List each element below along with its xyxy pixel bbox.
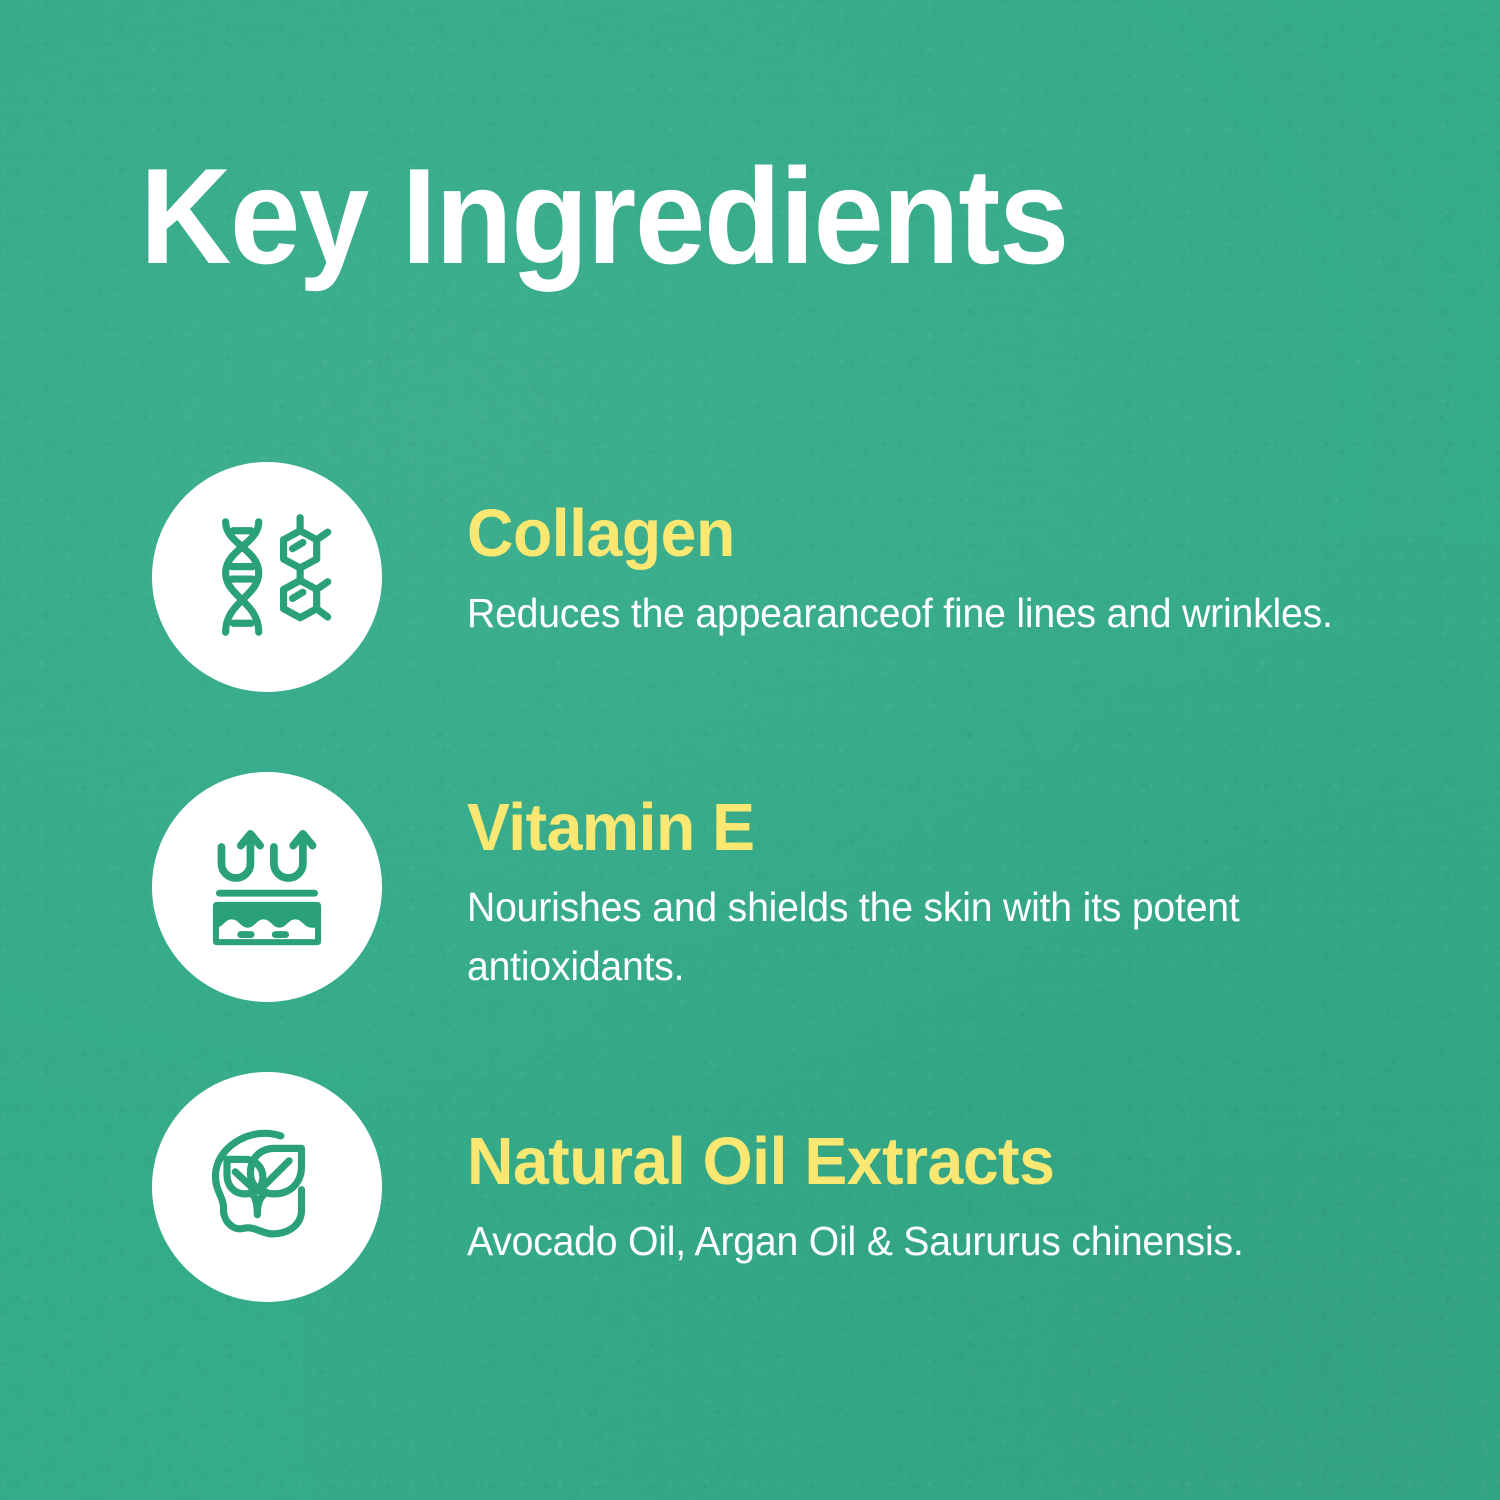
- dna-molecule-icon: [198, 508, 336, 646]
- ingredient-list: Collagen Reduces the appearanceof fine l…: [0, 0, 1500, 1500]
- ingredient-item-vitamin-e: Vitamin E Nourishes and shields the skin…: [152, 772, 1442, 1002]
- ingredient-name: Vitamin E: [467, 794, 1403, 862]
- ingredient-icon-badge: [152, 772, 382, 1002]
- ingredient-text: Vitamin E Nourishes and shields the skin…: [382, 772, 1442, 995]
- leaf-sprout-droplet-icon: [198, 1118, 336, 1256]
- infographic-canvas: Key Ingredients: [0, 0, 1500, 1500]
- ingredient-name: Collagen: [467, 500, 1403, 568]
- skin-layers-arrows-icon: [198, 818, 336, 956]
- ingredient-description: Avocado Oil, Argan Oil & Saururus chinen…: [467, 1212, 1398, 1270]
- ingredient-item-natural-oil-extracts: Natural Oil Extracts Avocado Oil, Argan …: [152, 1072, 1442, 1302]
- ingredient-description: Reduces the appearanceof fine lines and …: [467, 584, 1398, 642]
- ingredient-text: Natural Oil Extracts Avocado Oil, Argan …: [382, 1072, 1442, 1271]
- ingredient-name: Natural Oil Extracts: [467, 1128, 1403, 1196]
- ingredient-icon-badge: [152, 1072, 382, 1302]
- ingredient-description: Nourishes and shields the skin with its …: [467, 878, 1331, 994]
- ingredient-item-collagen: Collagen Reduces the appearanceof fine l…: [152, 462, 1442, 692]
- ingredient-text: Collagen Reduces the appearanceof fine l…: [382, 462, 1442, 643]
- ingredient-icon-badge: [152, 462, 382, 692]
